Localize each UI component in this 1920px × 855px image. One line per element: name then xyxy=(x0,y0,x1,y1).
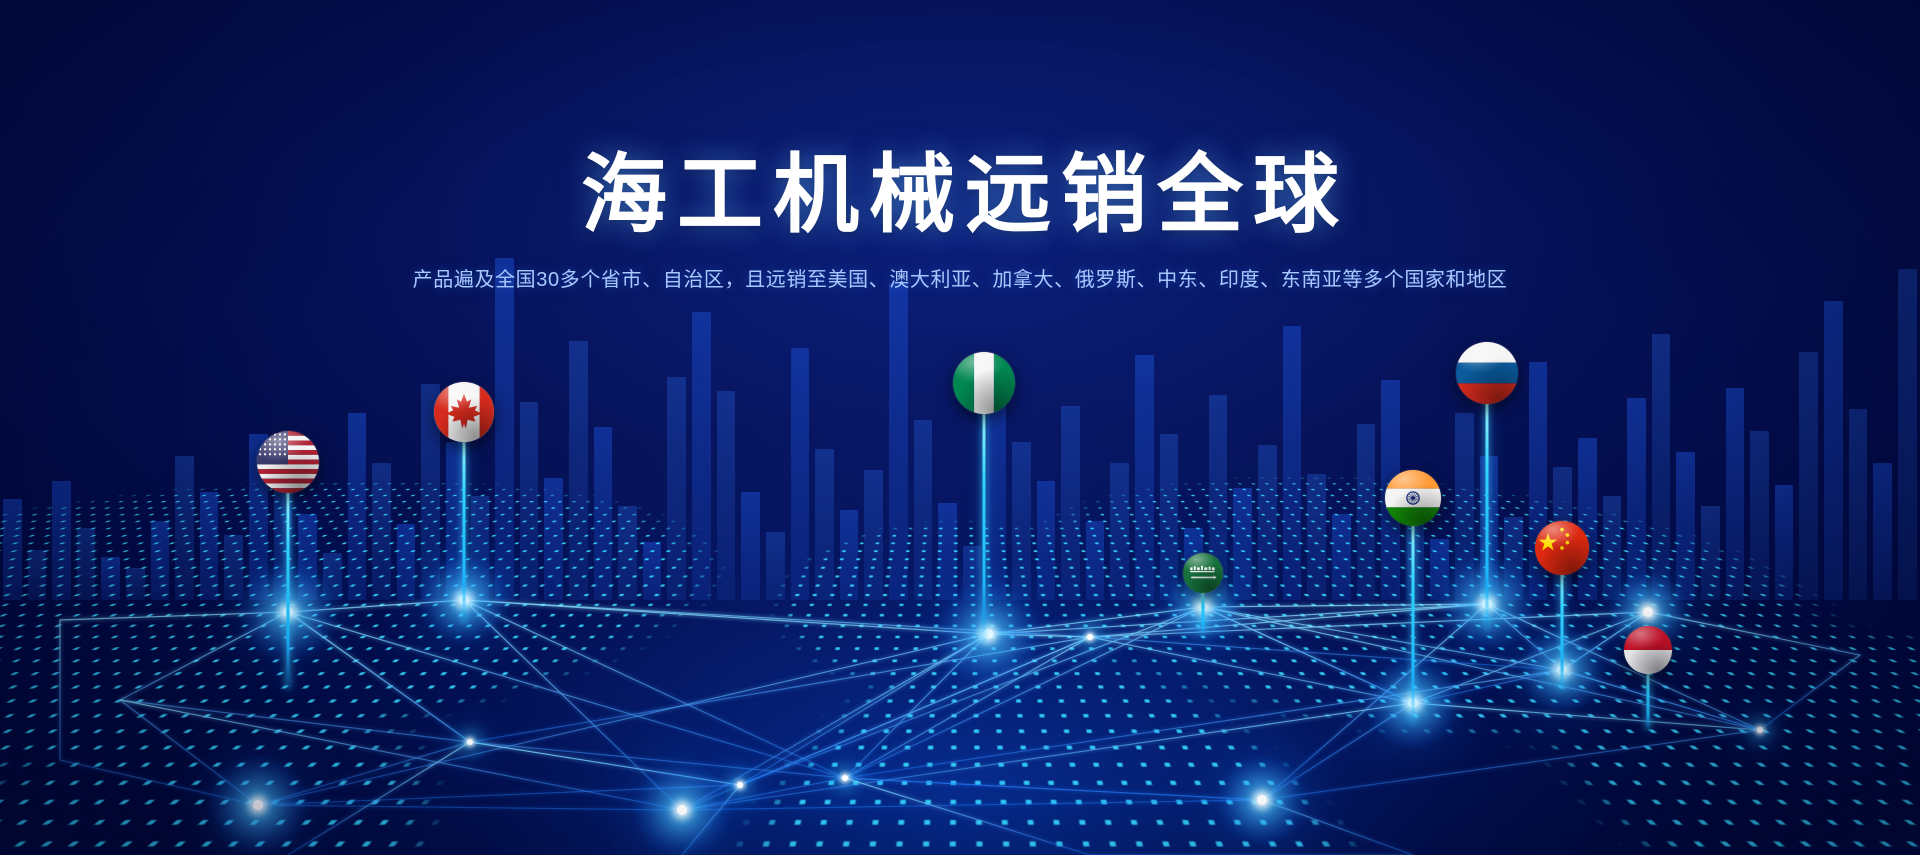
chart-bar xyxy=(175,456,194,600)
map-node xyxy=(467,739,473,745)
flag-graphic xyxy=(1624,626,1672,674)
chart-bar xyxy=(1135,355,1154,600)
chart-bar xyxy=(1233,488,1252,600)
pin-pole-icon xyxy=(983,410,986,642)
flag-graphic xyxy=(1456,342,1518,404)
chart-bar xyxy=(471,496,490,600)
chart-bar xyxy=(151,521,170,600)
chart-bar xyxy=(1455,413,1474,600)
flag-russia-icon[interactable] xyxy=(1456,342,1518,404)
vignette-overlay xyxy=(0,0,1920,855)
chart-bar xyxy=(1750,431,1769,600)
chart-bar xyxy=(1726,388,1745,600)
chart-bar xyxy=(791,348,810,600)
chart-bar xyxy=(1799,352,1818,600)
chart-bar xyxy=(298,514,317,600)
flag-graphic xyxy=(953,352,1015,414)
chart-bar xyxy=(101,557,120,600)
map-node xyxy=(842,775,848,781)
chart-bar xyxy=(815,449,834,600)
chart-bar xyxy=(126,568,145,600)
flag-graphic xyxy=(257,431,319,493)
flag-saudi-arabia-icon[interactable] xyxy=(1183,553,1223,593)
chart-bar xyxy=(864,470,883,600)
chart-bar xyxy=(1160,434,1179,600)
flag-pin-saudi-arabia[interactable] xyxy=(1183,553,1223,593)
flag-pin-canada[interactable] xyxy=(434,382,494,442)
chart-bar xyxy=(1775,485,1794,600)
chart-bar xyxy=(1652,334,1671,600)
chart-bar xyxy=(618,506,637,600)
chart-bar xyxy=(741,492,760,600)
chart-bar xyxy=(1283,326,1302,600)
flag-china-icon[interactable] xyxy=(1535,521,1589,575)
chart-bar xyxy=(1086,521,1105,600)
chart-bar xyxy=(1357,424,1376,600)
chart-bar xyxy=(1627,398,1646,600)
flag-united-states-icon[interactable] xyxy=(257,431,319,493)
headline-block: 海工机械远销全球 产品遍及全国30多个省市、自治区，且远销至美国、澳大利亚、加拿… xyxy=(0,150,1920,294)
chart-bar xyxy=(1676,452,1695,600)
chart-bar xyxy=(224,535,243,600)
chart-bar xyxy=(397,524,416,600)
chart-bar xyxy=(1307,474,1326,600)
chart-bar xyxy=(1061,406,1080,600)
map-node xyxy=(1757,727,1763,733)
page-subtitle: 产品遍及全国30多个省市、自治区，且远销至美国、澳大利亚、加拿大、俄罗斯、中东、… xyxy=(0,266,1920,294)
network-lines xyxy=(60,600,1860,855)
chart-bar xyxy=(766,532,785,600)
flag-pin-russia[interactable] xyxy=(1456,342,1518,404)
chart-bar xyxy=(1430,539,1449,600)
flag-graphic xyxy=(434,382,494,442)
flag-graphic xyxy=(1385,470,1441,526)
chart-bar xyxy=(1603,496,1622,600)
chart-bar xyxy=(594,427,613,600)
chart-bar xyxy=(717,391,736,600)
flag-pin-china[interactable] xyxy=(1535,521,1589,575)
pin-pole-icon xyxy=(1412,522,1415,722)
chart-bar xyxy=(889,283,908,600)
chart-bar xyxy=(348,413,367,600)
flag-pin-nigeria[interactable] xyxy=(953,352,1015,414)
chart-bar xyxy=(200,492,219,600)
map-node xyxy=(677,805,687,815)
pin-pole-icon xyxy=(463,438,466,623)
chart-bar xyxy=(1824,301,1843,600)
network-node-glows xyxy=(206,554,1688,855)
chart-bar xyxy=(667,377,686,600)
chart-bar xyxy=(1873,463,1892,600)
chart-bar xyxy=(323,553,342,600)
chart-bar xyxy=(1110,463,1129,600)
chart-bar xyxy=(28,550,47,600)
pin-pole-icon xyxy=(1561,571,1564,691)
chart-bar xyxy=(1504,517,1523,600)
map-node xyxy=(1257,795,1267,805)
chart-bar xyxy=(77,528,96,600)
map-node xyxy=(1643,607,1653,617)
flag-nigeria-icon[interactable] xyxy=(953,352,1015,414)
pin-pole-icon xyxy=(1647,670,1650,730)
chart-bar xyxy=(1258,445,1277,600)
chart-bar xyxy=(569,341,588,600)
page-title: 海工机械远销全球 xyxy=(0,150,1920,240)
flag-pin-united-states[interactable] xyxy=(257,431,319,493)
flag-pin-indonesia[interactable] xyxy=(1624,626,1672,674)
chart-bar xyxy=(1037,481,1056,600)
chart-bar xyxy=(914,420,933,600)
network-overlay xyxy=(0,0,1920,855)
chart-bar xyxy=(1012,442,1031,600)
chart-bar xyxy=(495,258,514,600)
chart-bar xyxy=(938,503,957,600)
chart-bar xyxy=(1578,438,1597,600)
map-node xyxy=(253,800,263,810)
chart-bar xyxy=(1849,409,1868,600)
chart-bar xyxy=(1480,456,1499,600)
chart-bar xyxy=(3,499,22,600)
chart-bar xyxy=(643,542,662,600)
flag-india-icon[interactable] xyxy=(1385,470,1441,526)
map-node xyxy=(1087,634,1093,640)
flag-graphic xyxy=(1183,553,1223,593)
hero-banner: 海工机械远销全球 产品遍及全国30多个省市、自治区，且远销至美国、澳大利亚、加拿… xyxy=(0,0,1920,855)
chart-bar xyxy=(1701,506,1720,600)
chart-bar xyxy=(1332,514,1351,600)
flag-graphic xyxy=(1535,521,1589,575)
map-node xyxy=(737,782,743,788)
flag-canada-icon[interactable] xyxy=(434,382,494,442)
chart-bar xyxy=(52,481,71,600)
chart-bar xyxy=(1898,269,1917,600)
flag-pin-india[interactable] xyxy=(1385,470,1441,526)
chart-bar xyxy=(692,312,711,600)
flag-indonesia-icon[interactable] xyxy=(1624,626,1672,674)
chart-bar xyxy=(544,478,563,600)
chart-bar xyxy=(963,546,982,600)
chart-bar xyxy=(520,402,539,600)
chart-bar xyxy=(840,510,859,600)
pin-pole-icon xyxy=(1486,400,1489,630)
pin-pole-icon xyxy=(1202,589,1205,634)
pin-pole-icon xyxy=(287,489,290,689)
chart-bar xyxy=(372,463,391,600)
